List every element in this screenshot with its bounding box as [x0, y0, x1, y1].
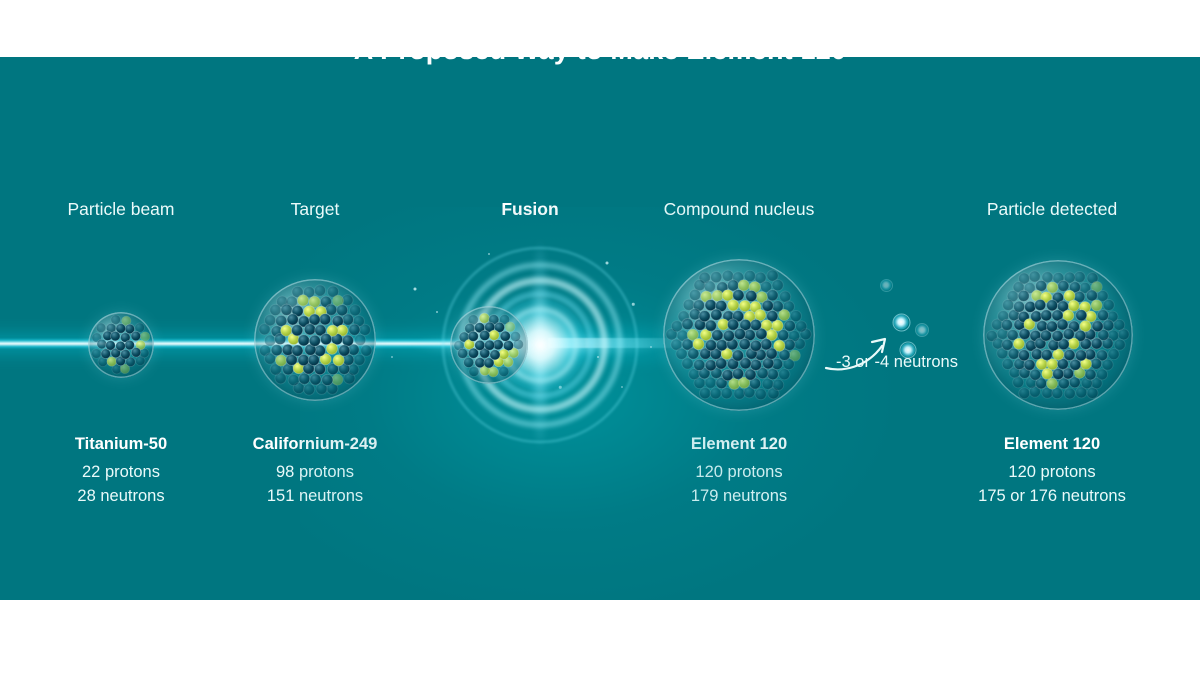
nucleon-cluster: [88, 312, 154, 378]
isotope-name: Element 120: [978, 435, 1126, 454]
nucleus-sphere-icon-compound: [663, 259, 815, 411]
nucleus-shell: [450, 306, 528, 384]
sparkle: [559, 386, 562, 389]
proton-count: 120 protons: [691, 461, 787, 485]
caption-compound-element-120: Element 120 120 protons 179 neutrons: [691, 435, 787, 509]
page-title: A Proposed Way to Make Element 120: [0, 35, 1200, 66]
proton-count: 120 protons: [978, 461, 1126, 485]
emitted-neutron-icon: [881, 280, 892, 291]
sparkle: [597, 356, 599, 358]
stage-header-particle-beam: Particle beam: [68, 199, 175, 220]
stage-header-particle-detected: Particle detected: [987, 199, 1117, 220]
sparkle: [488, 253, 490, 255]
nucleus-sphere-icon-titanium-50: [88, 312, 154, 378]
nucleus-sphere-icon-fusing-projectile: [450, 306, 528, 384]
neutron-count: 28 neutrons: [75, 485, 167, 509]
stage-header-fusion: Fusion: [501, 199, 558, 220]
sparkle: [632, 303, 635, 306]
isotope-name: Californium-249: [253, 435, 378, 454]
nucleus-shell: [254, 279, 376, 401]
sparkle: [606, 262, 609, 265]
nucleus-shell: [88, 312, 154, 378]
sparkle: [436, 311, 438, 313]
nucleus-shell: [663, 259, 815, 411]
particle-beam-left: [0, 338, 460, 349]
caption-californium-249: Californium-249 98 protons 151 neutrons: [253, 435, 378, 509]
nucleus-sphere-icon-californium-249: [254, 279, 376, 401]
stage-header-compound-nucleus: Compound nucleus: [664, 199, 815, 220]
neutron-count: 179 neutrons: [691, 485, 787, 509]
nucleon-cluster: [450, 306, 528, 384]
neutron-count: 151 neutrons: [253, 485, 378, 509]
neutron-core: [881, 280, 892, 291]
decay-annotation-label: -3 or -4 neutrons: [836, 353, 958, 372]
sparkle: [650, 346, 652, 348]
teal-panel: -3 or -4 neutrons Particle beam Target F…: [0, 57, 1200, 600]
proton-count: 98 protons: [253, 461, 378, 485]
nucleus-shell: [983, 260, 1133, 410]
nucleus-sphere-icon-detected: [983, 260, 1133, 410]
stage-header-target: Target: [291, 199, 340, 220]
infographic-root: -3 or -4 neutrons Particle beam Target F…: [0, 0, 1200, 675]
sparkle: [414, 288, 417, 291]
proton-count: 22 protons: [75, 461, 167, 485]
sparkle: [391, 356, 393, 358]
neutron-count: 175 or 176 neutrons: [978, 485, 1126, 509]
nucleon-cluster: [983, 260, 1133, 410]
isotope-name: Titanium-50: [75, 435, 167, 454]
sparkle: [621, 386, 623, 388]
caption-titanium-50: Titanium-50 22 protons 28 neutrons: [75, 435, 167, 509]
nucleon-cluster: [254, 279, 376, 401]
nucleon-cluster: [663, 259, 815, 411]
isotope-name: Element 120: [691, 435, 787, 454]
caption-detected-element-120: Element 120 120 protons 175 or 176 neutr…: [978, 435, 1126, 509]
